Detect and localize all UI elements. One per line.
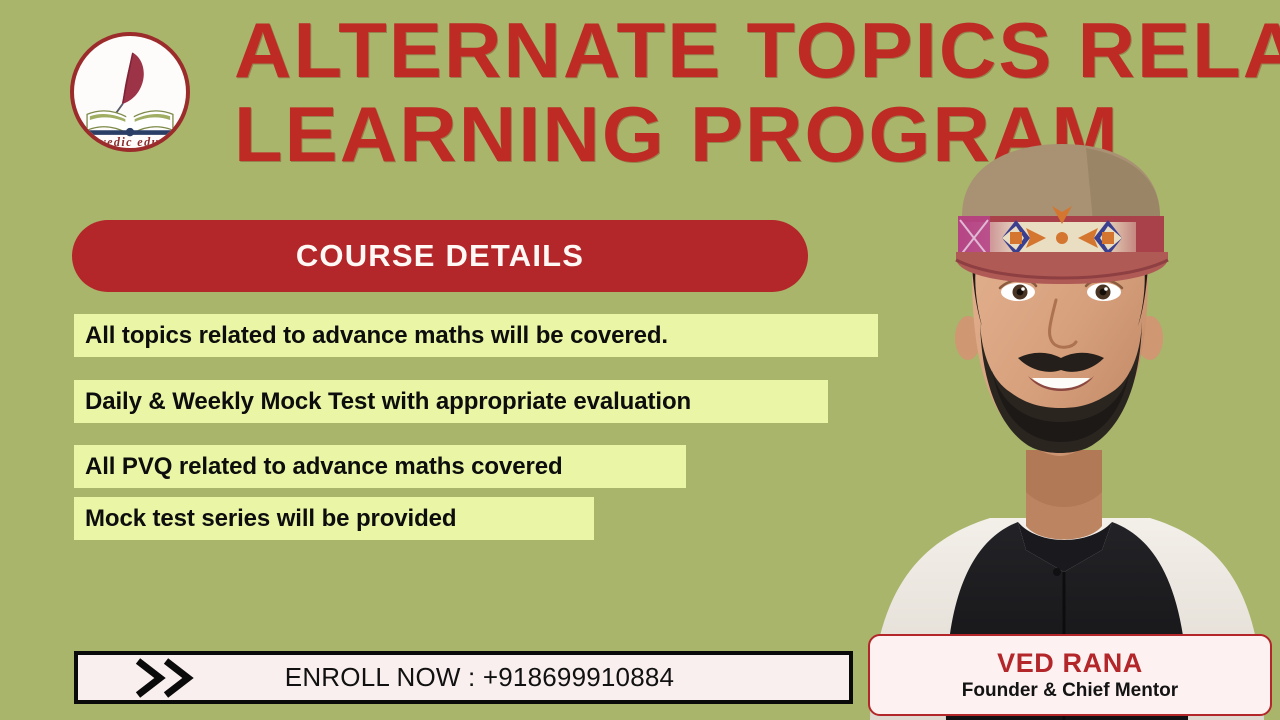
enroll-now-text: ENROLL NOW : +918699910884 <box>196 662 849 693</box>
logo-artwork-icon: vedic edu <box>74 36 186 148</box>
svg-text:vedic edu: vedic edu <box>100 135 159 148</box>
feature-item: All topics related to advance maths will… <box>74 314 878 357</box>
presenter-role: Founder & Chief Mentor <box>962 679 1178 703</box>
feature-text: All PVQ related to advance maths covered <box>85 453 563 481</box>
feature-item: Daily & Weekly Mock Test with appropriat… <box>74 380 828 423</box>
feature-text: Daily & Weekly Mock Test with appropriat… <box>85 388 691 416</box>
course-details-banner: COURSE DETAILS <box>72 220 808 292</box>
enroll-now-bar[interactable]: ENROLL NOW : +918699910884 <box>74 651 853 704</box>
vedic-edu-logo: vedic edu <box>70 32 190 152</box>
presenter-name: VED RANA <box>997 647 1143 679</box>
feature-text: All topics related to advance maths will… <box>85 322 668 350</box>
presenter-photo <box>850 120 1280 720</box>
presenter-name-card: VED RANA Founder & Chief Mentor <box>868 634 1272 716</box>
double-chevron-right-icon <box>134 658 196 698</box>
presenter-portrait-illustration <box>850 120 1280 720</box>
title-line-1: ALTERNATE TOPICS RELATED <box>234 8 1183 92</box>
promo-banner: vedic edu ALTERNATE TOPICS RELATED LEARN… <box>0 0 1280 720</box>
feature-item: All PVQ related to advance maths covered <box>74 445 686 488</box>
course-details-label: COURSE DETAILS <box>296 238 584 274</box>
feature-item: Mock test series will be provided <box>74 497 594 540</box>
feature-text: Mock test series will be provided <box>85 505 457 533</box>
